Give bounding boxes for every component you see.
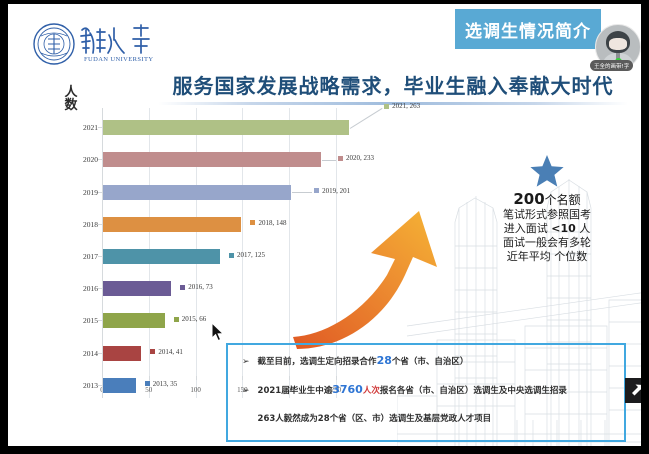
- chart-label-swatch: [180, 285, 185, 290]
- chart-bar[interactable]: [103, 217, 241, 232]
- chart-data-label: 2020, 233: [346, 154, 374, 162]
- section-banner-label: 选调生情况简介: [465, 17, 591, 42]
- chart-data-label: 2015, 66: [182, 315, 207, 323]
- highlight-bullet: ➢截至目前，选调生定向招录合作28个省（市、自治区）: [242, 355, 618, 368]
- chart-data-label: 2018, 148: [258, 219, 286, 227]
- highlight-bullet: ➢2021届毕业生中逾3760人次报名各省（市、自治区）选调生及中央选调生招录: [242, 384, 618, 397]
- chart-data-label: 2019, 201: [322, 187, 350, 195]
- chart-x-tick-label: 100: [190, 386, 201, 394]
- callout-line3-post: 人: [576, 222, 591, 235]
- chart-data-label-group: 2015, 66: [174, 315, 207, 323]
- bullet-text-segment: 2021届毕业生中逾: [258, 386, 333, 396]
- chart-bar[interactable]: [103, 185, 291, 200]
- chart-y-tickmark: [98, 385, 102, 386]
- chart-category-label: 2021: [64, 123, 98, 132]
- chart-leader-line: [322, 160, 336, 161]
- chart-bar[interactable]: [103, 378, 136, 393]
- chart-bar[interactable]: [103, 346, 141, 361]
- chart-y-tickmark: [98, 224, 102, 225]
- chart-y-tickmark: [98, 127, 102, 128]
- chart-data-label: 2017, 125: [237, 251, 265, 259]
- callout-line-2: 笔试形式参照国考: [467, 208, 627, 222]
- bullet-text: 截至目前，选调生定向招录合作28个省（市、自治区）: [258, 355, 469, 368]
- chart-y-tickmark: [98, 192, 102, 193]
- star-icon: [529, 154, 565, 188]
- quota-suffix: 个名额: [545, 193, 581, 207]
- chart-label-swatch: [174, 317, 179, 322]
- bullet-text-segment: 人次: [363, 386, 380, 396]
- video-stage: FUDAN UNIVERSITY 选调生情况简介 王全的画带!字 服务国家发展战…: [0, 0, 649, 454]
- presentation-slide: FUDAN UNIVERSITY 选调生情况简介 王全的画带!字 服务国家发展战…: [8, 4, 641, 446]
- chart-category-label: 2019: [64, 188, 98, 197]
- chart-label-swatch: [250, 220, 255, 225]
- chart-data-label-group: 2013, 35: [145, 380, 178, 388]
- bullet-text-segment: 截至目前，选调生定向招录合作: [258, 357, 377, 367]
- bullet-marker-icon: ➢: [242, 384, 250, 396]
- callout-line-3: 进入面试 <10 人: [467, 222, 627, 236]
- chart-leader-line: [292, 192, 312, 193]
- chart-label-swatch: [229, 253, 234, 258]
- section-banner: 选调生情况简介: [455, 9, 601, 49]
- chart-bar[interactable]: [103, 249, 220, 264]
- presenter-name-label: 王全的画带!字: [594, 62, 629, 70]
- chart-category-label: 2017: [64, 252, 98, 261]
- chart-data-label-group: 2018, 148: [250, 219, 286, 227]
- fudan-logo: FUDAN UNIVERSITY: [32, 16, 157, 74]
- bullet-text-segment: 个省（市、自治区）: [392, 357, 469, 367]
- chart-bar[interactable]: [103, 152, 321, 167]
- chart-label-swatch: [150, 349, 155, 354]
- bullet-text: 2021届毕业生中逾3760人次报名各省（市、自治区）选调生及中央选调生招录: [258, 384, 567, 397]
- chart-category-label: 2018: [64, 220, 98, 229]
- chart-data-label-group: 2021, 263: [384, 102, 420, 110]
- chart-x-tickmark: [196, 376, 197, 380]
- chart-data-label: 2013, 35: [153, 380, 178, 388]
- chart-data-label-group: 2014, 41: [150, 348, 183, 356]
- highlights-box: ➢截至目前，选调生定向招录合作28个省（市、自治区）➢2021届毕业生中逾376…: [226, 343, 626, 442]
- chart-data-label-group: 2017, 125: [229, 251, 265, 259]
- chart-y-tickmark: [98, 159, 102, 160]
- chart-y-tickmark: [98, 256, 102, 257]
- chart-data-label-group: 2019, 201: [314, 187, 350, 195]
- chart-category-label: 2015: [64, 316, 98, 325]
- chart-label-swatch: [338, 156, 343, 161]
- chart-data-label: 2016, 73: [188, 283, 213, 291]
- chart-category-label: 2020: [64, 155, 98, 164]
- chart-category-label: 2014: [64, 349, 98, 358]
- chart-bar[interactable]: [103, 313, 165, 328]
- quota-number: 200: [513, 190, 544, 208]
- callout-line3-pre: 进入面试: [504, 222, 552, 235]
- chart-bar[interactable]: [103, 281, 171, 296]
- bullet-text: 263人毅然成为28个省（区、市）选调生及基层党政人才项目: [258, 413, 492, 425]
- expand-icon: [630, 383, 641, 398]
- chart-y-tickmark: [98, 353, 102, 354]
- bullet-text-segment: 3760: [332, 383, 363, 396]
- chart-leader-line: [350, 108, 383, 129]
- chart-label-swatch: [384, 104, 389, 109]
- callout-line-5: 近年平均 个位数: [467, 250, 627, 264]
- chart-data-label-group: 2016, 73: [180, 283, 213, 291]
- chart-y-tickmark: [98, 288, 102, 289]
- chart-category-label: 2016: [64, 284, 98, 293]
- highlight-bullet: ➢263人毅然成为28个省（区、市）选调生及基层党政人才项目: [242, 413, 618, 425]
- logo-english-text: FUDAN UNIVERSITY: [84, 56, 153, 63]
- slide-title: 服务国家发展战略需求，毕业生融入奉献大时代: [158, 70, 628, 99]
- chart-bar[interactable]: [103, 120, 349, 135]
- callout-line-4: 面试一般会有多轮: [467, 236, 627, 250]
- chart-y-tickmark: [98, 320, 102, 321]
- chart-data-label: 2021, 263: [392, 102, 420, 110]
- avatar-face: [609, 38, 627, 50]
- slide-title-block: 服务国家发展战略需求，毕业生融入奉献大时代: [158, 70, 628, 105]
- bullet-text-segment: 报名各省（市、自治区）选调生及中央选调生招录: [380, 386, 567, 396]
- chart-data-label-group: 2020, 233: [338, 154, 374, 162]
- bullet-marker-icon: ➢: [242, 355, 250, 367]
- fudan-seal-icon: [32, 22, 76, 66]
- quota-line: 200个名额: [467, 190, 627, 208]
- chart-category-label: 2013: [64, 381, 98, 390]
- quota-callout: 200个名额 笔试形式参照国考 进入面试 <10 人 面试一般会有多轮 近年平均…: [467, 154, 627, 264]
- bullet-text-segment: 28: [377, 354, 392, 367]
- callout-line3-number: <10: [551, 222, 576, 235]
- chart-label-swatch: [314, 188, 319, 193]
- bullet-text-segment: 263人毅然成为28个省（区、市）选调生及基层党政人才项目: [258, 414, 492, 424]
- chart-label-swatch: [145, 381, 150, 386]
- fullscreen-button[interactable]: [625, 378, 641, 403]
- chart-data-label: 2014, 41: [158, 348, 183, 356]
